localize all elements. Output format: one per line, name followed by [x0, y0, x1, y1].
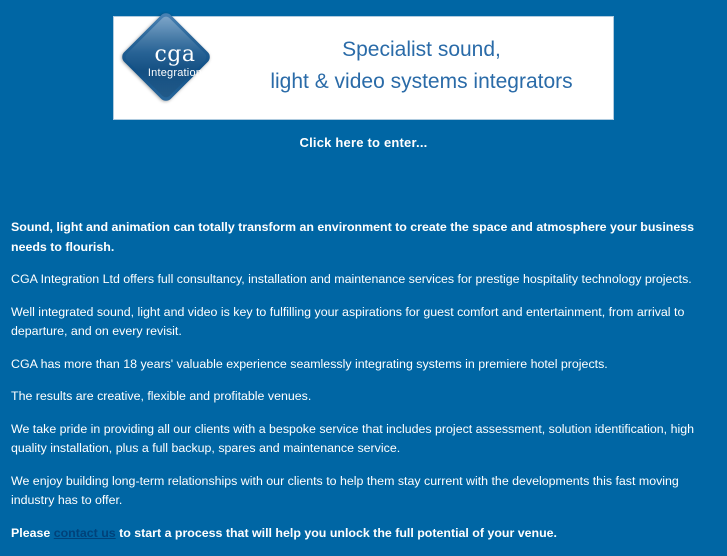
- header-banner: cga Integration Specialist sound, light …: [113, 16, 614, 120]
- body-copy: Sound, light and animation can totally t…: [11, 218, 717, 556]
- cta-prefix: Please: [11, 526, 54, 540]
- click-here-to-enter-link[interactable]: Click here to enter...: [0, 135, 727, 150]
- paragraph-intro: Sound, light and animation can totally t…: [11, 218, 717, 257]
- paragraph-call-to-action: Please contact us to start a process tha…: [11, 524, 717, 544]
- paragraph-results: The results are creative, flexible and p…: [11, 387, 717, 407]
- cta-suffix: to start a process that will help you un…: [116, 526, 557, 540]
- paragraph-relationships: We enjoy building long-term relationship…: [11, 472, 717, 511]
- paragraph-integration: Well integrated sound, light and video i…: [11, 303, 717, 342]
- paragraph-bespoke: We take pride in providing all our clien…: [11, 420, 717, 459]
- contact-us-link[interactable]: contact us: [54, 526, 116, 540]
- banner-tagline: Specialist sound, light & video systems …: [236, 34, 613, 102]
- paragraph-consultancy: CGA Integration Ltd offers full consulta…: [11, 270, 717, 290]
- banner-tagline-line-1: Specialist sound,: [236, 34, 607, 66]
- paragraph-experience: CGA has more than 18 years' valuable exp…: [11, 355, 717, 375]
- logo-container: cga Integration: [114, 16, 236, 120]
- banner-tagline-line-2: light & video systems integrators: [236, 66, 607, 98]
- cga-diamond-logo-icon: [119, 10, 212, 103]
